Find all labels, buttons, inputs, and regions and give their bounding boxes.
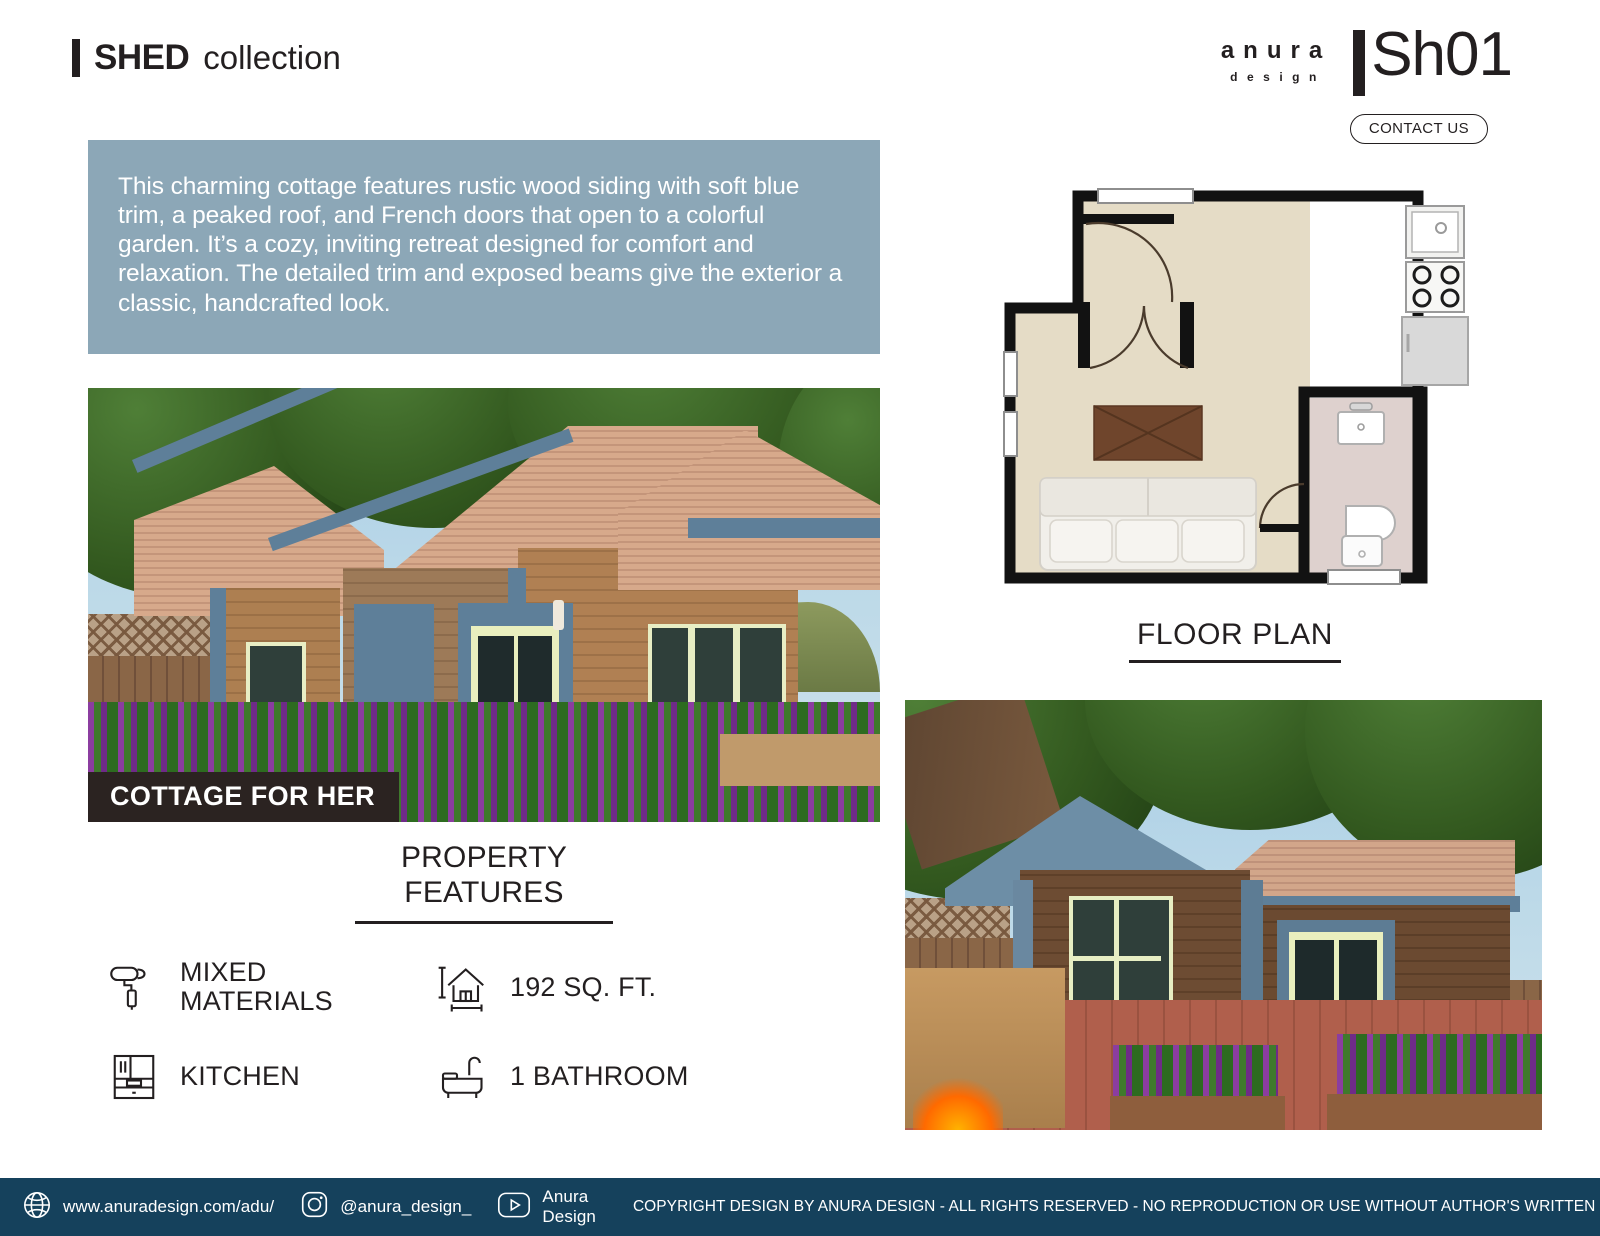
floor-plan-title-block: FLOOR PLAN (998, 618, 1472, 663)
floor-plan-title: FLOOR PLAN (998, 618, 1472, 652)
feature-label-line2: MATERIALS (180, 986, 333, 1016)
brand-logo-text: anura design (1221, 26, 1353, 84)
floor-plan-drawing (998, 184, 1472, 598)
title-accent-bar (72, 39, 80, 77)
gable-trim-right (688, 518, 880, 538)
footer-instagram-link[interactable]: @anura_design_ (300, 1190, 471, 1224)
feature-label: KITCHEN (180, 1062, 300, 1092)
footer-bar: www.anuradesign.com/adu/ @anura_design_ … (0, 1178, 1600, 1236)
floor-plan-svg (998, 184, 1472, 598)
exterior-render-secondary (905, 700, 1542, 1130)
kitchen-cabinet-icon (106, 1049, 162, 1105)
contact-us-button[interactable]: CONTACT US (1350, 114, 1488, 144)
bathtub-icon (436, 1049, 492, 1105)
description-text: This charming cottage features rustic wo… (118, 172, 844, 318)
features-heading: PROPERTY FEATURES (88, 840, 880, 911)
footer-youtube-text: Anura Design (542, 1187, 596, 1227)
feature-bathroom: 1 BATHROOM (418, 1049, 880, 1105)
globe-icon (22, 1190, 52, 1225)
feature-label: MIXED MATERIALS (180, 958, 333, 1017)
features-underline (355, 921, 613, 924)
feature-label: 1 BATHROOM (510, 1062, 689, 1092)
feature-label-line1: MIXED (180, 957, 267, 987)
lattice-panel-left (88, 614, 223, 660)
description-panel: This charming cottage features rustic wo… (88, 140, 880, 354)
features-heading-line2: FEATURES (88, 875, 880, 910)
footer-website-link[interactable]: www.anuradesign.com/adu/ (22, 1190, 274, 1225)
hero-caption: COTTAGE FOR HER (88, 772, 399, 822)
footer-website-text: www.anuradesign.com/adu/ (63, 1197, 274, 1217)
brand-logo: anura design Sh01 (1221, 26, 1512, 96)
features-grid: MIXED MATERIALS 192 SQ. FT (88, 958, 880, 1105)
planter-box-3 (1327, 1094, 1542, 1130)
brand-name: anura (1221, 38, 1331, 64)
fire-feature (913, 1070, 1003, 1130)
feature-mixed-materials: MIXED MATERIALS (88, 958, 418, 1017)
instagram-icon (300, 1190, 329, 1224)
youtube-play-icon (497, 1191, 531, 1224)
kitchen-fixtures (1402, 206, 1468, 385)
planter-flowers-left (1113, 1045, 1278, 1100)
features-heading-line1: PROPERTY (88, 840, 880, 875)
page-title: SHED collection (72, 38, 341, 78)
paint-roller-icon (106, 959, 162, 1015)
model-code: Sh01 (1371, 26, 1512, 83)
house-dimension-icon (436, 959, 492, 1015)
collection-accent-word: SHED (94, 38, 189, 78)
footer-copyright: COPYRIGHT DESIGN BY ANURA DESIGN - ALL R… (633, 1198, 1600, 1216)
planter-flowers-right (1337, 1034, 1542, 1096)
property-features-section: PROPERTY FEATURES MIXED MATERIALS (88, 840, 880, 1105)
wall-lamp (553, 600, 564, 630)
logo-divider-bar (1353, 30, 1365, 96)
footer-instagram-text: @anura_design_ (340, 1197, 471, 1217)
brand-subtitle: design (1225, 70, 1331, 84)
footer-youtube-link[interactable]: Anura Design (497, 1187, 596, 1227)
feature-square-footage: 192 SQ. FT. (418, 958, 880, 1017)
collection-label: collection (203, 39, 341, 77)
window-2-mullion-v (1114, 900, 1119, 1012)
feature-label: 192 SQ. FT. (510, 973, 656, 1003)
planter-box-2 (1110, 1096, 1285, 1130)
exterior-render-primary: COTTAGE FOR HER (88, 388, 880, 822)
planter-box-right (720, 734, 880, 786)
feature-kitchen: KITCHEN (88, 1049, 418, 1105)
floor-plan-underline (1129, 660, 1341, 663)
